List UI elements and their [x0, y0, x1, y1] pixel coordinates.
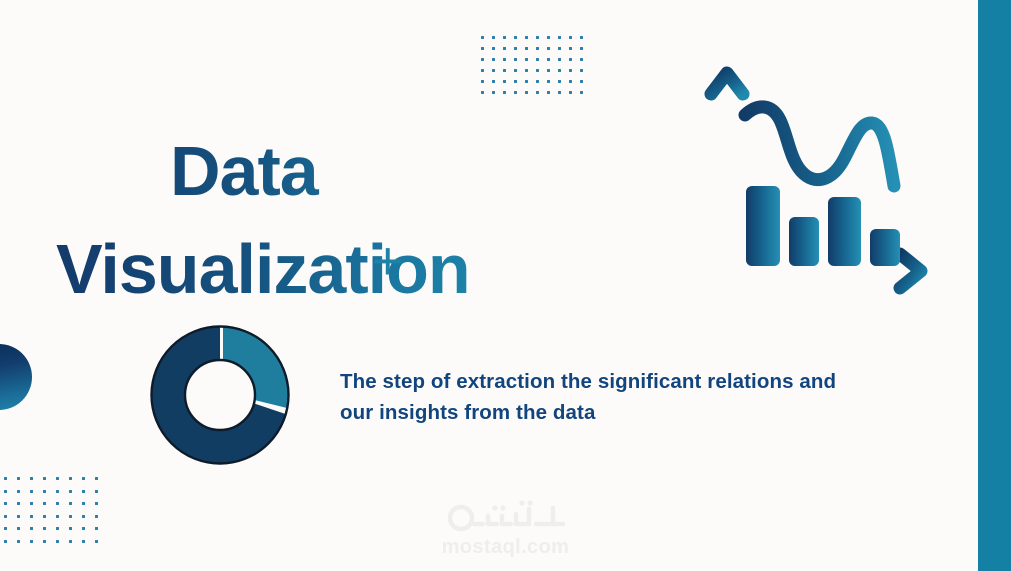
decorative-dot [43, 540, 46, 543]
decorative-dot [514, 58, 517, 61]
decorative-dot [4, 540, 7, 543]
decorative-dot [43, 477, 46, 480]
decorative-dot [56, 477, 59, 480]
decorative-dot [503, 69, 506, 72]
decorative-dot [503, 47, 506, 50]
decorative-dot [547, 91, 550, 94]
decorative-dot [536, 36, 539, 39]
decorative-dot [580, 58, 583, 61]
decorative-dot [569, 47, 572, 50]
decorative-dot [69, 477, 72, 480]
decorative-dot [525, 69, 528, 72]
watermark-url: mostaql.com [0, 536, 1011, 559]
decorative-dot [525, 80, 528, 83]
decorative-dot [558, 69, 561, 72]
decorative-dot [43, 527, 46, 530]
decorative-dot [514, 36, 517, 39]
right-edge-accent-bar [978, 0, 1011, 571]
title-line-data: Data [56, 122, 516, 220]
description-text: The step of extraction the significant r… [340, 366, 896, 428]
decorative-dot [17, 477, 20, 480]
decorative-dot [30, 540, 33, 543]
decorative-dot [56, 540, 59, 543]
mostaql-logo-icon [441, 494, 571, 534]
chart-wave-line [745, 107, 894, 186]
bar-line-chart-icon [700, 58, 944, 298]
decorative-dot [580, 69, 583, 72]
decorative-dot [503, 58, 506, 61]
plus-icon: + [372, 234, 404, 288]
decorative-dot [95, 515, 98, 518]
decorative-dot [43, 515, 46, 518]
decorative-dot [4, 515, 7, 518]
decorative-dot [17, 527, 20, 530]
description-line-2: our insights from the data [340, 397, 896, 428]
decorative-dot [82, 527, 85, 530]
decorative-dot [82, 502, 85, 505]
decorative-dot [525, 91, 528, 94]
decorative-dot [525, 47, 528, 50]
decorative-dot [503, 36, 506, 39]
decorative-dot [95, 527, 98, 530]
decorative-dot [481, 91, 484, 94]
decorative-dot [82, 490, 85, 493]
decorative-dot [43, 490, 46, 493]
dot-grid-bottom-left [4, 477, 108, 552]
decorative-dot [536, 80, 539, 83]
watermark: mostaql.com [0, 494, 1011, 559]
chart-bar-3 [828, 197, 861, 266]
decorative-dot [569, 91, 572, 94]
decorative-dot [558, 36, 561, 39]
decorative-dot [17, 490, 20, 493]
decorative-dot [17, 515, 20, 518]
description-line-1: The step of extraction the significant r… [340, 366, 896, 397]
title-line-visualization: Visualization [56, 220, 516, 318]
decorative-dot [481, 80, 484, 83]
decorative-dot [503, 91, 506, 94]
decorative-dot [4, 477, 7, 480]
decorative-dot [56, 515, 59, 518]
chart-bar-1 [746, 186, 780, 266]
decorative-dot [481, 36, 484, 39]
decorative-dot [30, 515, 33, 518]
dot-grid-top [481, 36, 591, 102]
donut-chart-icon [147, 322, 293, 468]
decorative-dot [569, 80, 572, 83]
decorative-dot [30, 490, 33, 493]
decorative-dot [17, 502, 20, 505]
decorative-dot [492, 80, 495, 83]
decorative-dot [95, 540, 98, 543]
decorative-dot [95, 502, 98, 505]
donut-inner-hole [185, 360, 255, 430]
decorative-dot [82, 515, 85, 518]
decorative-dot [569, 58, 572, 61]
decorative-dot [569, 36, 572, 39]
decorative-dot [547, 80, 550, 83]
decorative-dot [558, 80, 561, 83]
chart-illustration-svg [700, 58, 944, 298]
decorative-dot [492, 58, 495, 61]
decorative-dot [558, 91, 561, 94]
decorative-dot [547, 69, 550, 72]
chart-bar-2 [789, 217, 819, 266]
decorative-dot [481, 47, 484, 50]
decorative-dot [492, 91, 495, 94]
decorative-dot [30, 477, 33, 480]
decorative-dot [69, 490, 72, 493]
decorative-dot [580, 80, 583, 83]
decorative-dot [558, 47, 561, 50]
page-title: Data Visualization + [56, 122, 516, 318]
decorative-dot [503, 80, 506, 83]
decorative-dot [69, 527, 72, 530]
title-line-data-text: Data [56, 122, 318, 220]
decorative-dot [536, 91, 539, 94]
decorative-dot [30, 502, 33, 505]
decorative-dot [69, 540, 72, 543]
decorative-dot [536, 69, 539, 72]
decorative-dot [43, 502, 46, 505]
decorative-dot [95, 490, 98, 493]
decorative-dot [56, 490, 59, 493]
decorative-dot [56, 502, 59, 505]
decorative-dot [4, 490, 7, 493]
decorative-dot [514, 80, 517, 83]
decorative-dot [514, 69, 517, 72]
decorative-dot [525, 36, 528, 39]
decorative-dot [547, 47, 550, 50]
slide-canvas: Data Visualization + The step of extract… [0, 0, 1011, 571]
decorative-dot [569, 69, 572, 72]
decorative-dot [69, 502, 72, 505]
decorative-dot [30, 527, 33, 530]
decorative-dot [17, 540, 20, 543]
decorative-dot [547, 58, 550, 61]
half-circle-decoration [0, 344, 32, 410]
decorative-dot [4, 502, 7, 505]
decorative-dot [492, 69, 495, 72]
decorative-dot [4, 527, 7, 530]
donut-chart-svg [147, 322, 293, 468]
decorative-dot [492, 47, 495, 50]
decorative-dot [536, 58, 539, 61]
decorative-dot [95, 477, 98, 480]
decorative-dot [69, 515, 72, 518]
decorative-dot [514, 47, 517, 50]
decorative-dot [56, 527, 59, 530]
decorative-dot [536, 47, 539, 50]
decorative-dot [580, 91, 583, 94]
decorative-dot [481, 58, 484, 61]
decorative-dot [558, 58, 561, 61]
decorative-dot [82, 477, 85, 480]
decorative-dot [82, 540, 85, 543]
decorative-dot [580, 36, 583, 39]
decorative-dot [525, 58, 528, 61]
decorative-dot [481, 69, 484, 72]
decorative-dot [547, 36, 550, 39]
decorative-dot [580, 47, 583, 50]
chart-bar-4 [870, 229, 900, 266]
decorative-dot [514, 91, 517, 94]
decorative-dot [492, 36, 495, 39]
